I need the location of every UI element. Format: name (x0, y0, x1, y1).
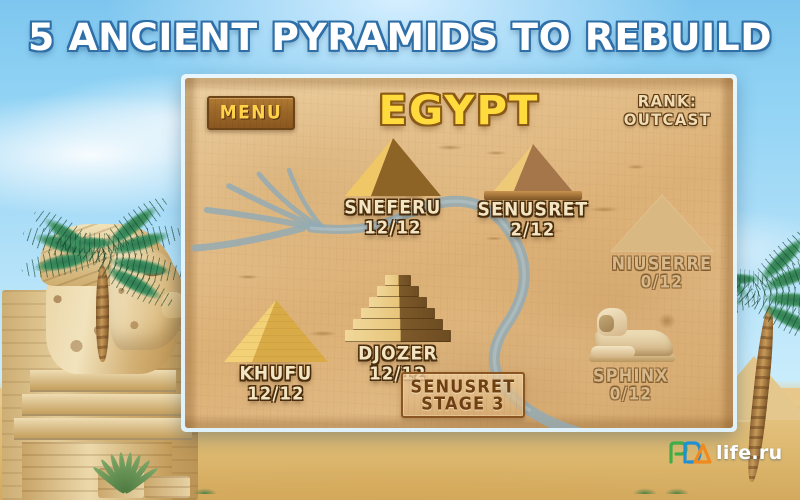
sphinx-face (599, 315, 614, 332)
pyramid-niuserre-icon (610, 194, 714, 252)
level-node-niuserre[interactable]: NIUSERRE 0/12 (597, 194, 727, 304)
shrub (188, 478, 222, 494)
watermark: life.ru (668, 440, 782, 466)
stage-button-line2: STAGE 3 (421, 394, 504, 413)
step-tier (369, 297, 427, 308)
rank-display: RANK: OUTCAST (624, 93, 711, 129)
node-name: SPHINX (593, 365, 669, 386)
node-label-sneferu: SNEFERU 12/12 (344, 198, 441, 237)
level-node-sneferu[interactable]: SNEFERU 12/12 (333, 138, 453, 248)
step-tier (353, 319, 443, 330)
step-tier (385, 275, 411, 286)
shrub (628, 478, 662, 494)
node-label-senusret: SENUSRET 2/12 (478, 200, 589, 239)
level-node-senusret[interactable]: SENUSRET 2/12 (473, 144, 593, 254)
map-panel: MENU EGYPT RANK: OUTCAST SNEFERU 12/12 (181, 74, 737, 432)
palm-tree-left (18, 232, 178, 362)
node-progress: 0/12 (612, 273, 713, 291)
node-progress: 12/12 (344, 218, 441, 237)
node-label-sphinx: SPHINX 0/12 (593, 366, 669, 403)
pdalife-logo-icon (668, 440, 712, 466)
node-progress: 0/12 (593, 385, 669, 403)
monument-tier (22, 394, 184, 416)
pyramid-senusret-icon (488, 144, 578, 198)
step-tier (377, 286, 419, 297)
rank-label: RANK: (624, 93, 711, 111)
node-progress: 2/12 (478, 220, 589, 239)
node-progress: 12/12 (239, 384, 312, 403)
sphinx-paws (591, 346, 635, 358)
pyramid-sneferu-icon (345, 138, 441, 196)
step-tier (361, 308, 435, 319)
palm-frond (56, 233, 125, 254)
game-screenshot: 5 ANCIENT PYRAMIDS TO REBUILD (0, 0, 800, 500)
node-name: SNEFERU (344, 197, 441, 219)
level-node-khufu[interactable]: KHUFU 12/12 (213, 300, 339, 412)
map-doodle (623, 164, 649, 170)
current-stage-button[interactable]: SENUSRET STAGE 3 (401, 372, 525, 418)
node-name: SENUSRET (478, 199, 589, 221)
node-name: DJOZER (358, 343, 438, 365)
node-label-niuserre: NIUSERRE 0/12 (612, 254, 713, 291)
promo-headline: 5 ANCIENT PYRAMIDS TO REBUILD (0, 16, 800, 59)
shrub (664, 478, 690, 494)
map-doodle (233, 274, 263, 280)
watermark-text: life.ru (716, 442, 782, 464)
pyramid-khufu-icon (224, 300, 328, 362)
monument-tier (14, 418, 192, 440)
step-tier-base (345, 330, 451, 342)
level-node-sphinx[interactable]: SPHINX 0/12 (563, 306, 699, 418)
map-parchment: MENU EGYPT RANK: OUTCAST SNEFERU 12/12 (185, 78, 733, 428)
node-label-khufu: KHUFU 12/12 (239, 364, 312, 403)
rank-value: OUTCAST (624, 111, 711, 129)
pyramid-djozer-icon (343, 276, 453, 342)
node-name: NIUSERRE (612, 253, 713, 274)
agave-plant (98, 446, 152, 492)
sphinx-icon (585, 306, 677, 362)
node-name: KHUFU (239, 363, 312, 385)
